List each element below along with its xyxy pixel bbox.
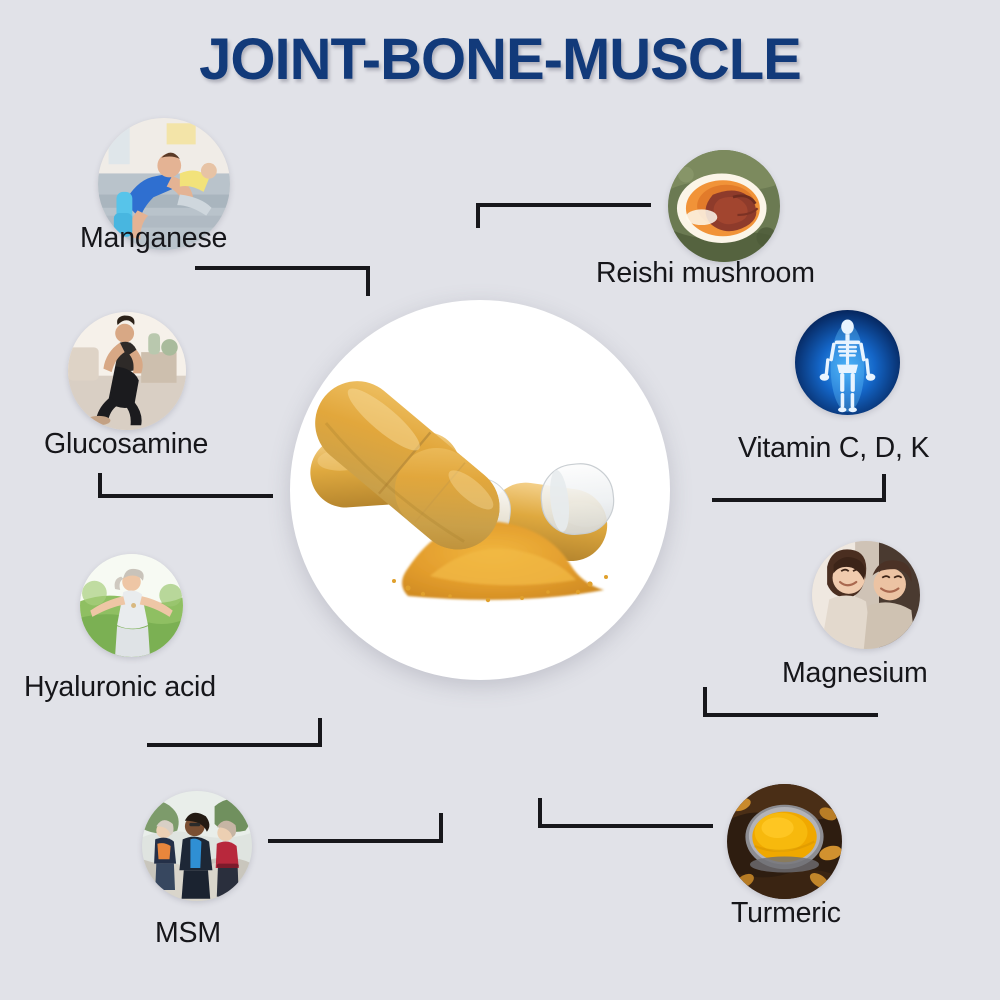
node-label-magnesium: Magnesium	[782, 657, 928, 690]
node-label-turmeric: Turmeric	[731, 897, 841, 930]
connector-reishi	[478, 205, 651, 228]
connector-magnesium	[705, 687, 878, 715]
woman-arms-open-photo-icon	[80, 554, 183, 657]
three-women-walking-photo-icon	[142, 791, 252, 901]
connector-manganese	[195, 268, 368, 296]
node-label-reishi-mushroom: Reishi mushroom	[596, 257, 815, 290]
infographic-canvas: JOINT-BONE-MUSCLE	[0, 0, 1000, 1000]
connector-msm	[268, 813, 441, 841]
two-women-smiling-photo-icon	[812, 541, 920, 649]
connector-vitamin	[712, 474, 884, 500]
page-title: JOINT-BONE-MUSCLE	[0, 26, 1000, 93]
connector-glucosamine	[100, 473, 273, 496]
node-label-glucosamine: Glucosamine	[44, 428, 208, 461]
woman-stretching-photo-icon	[68, 312, 186, 430]
node-label-msm: MSM	[155, 917, 221, 950]
skeleton-xray-photo-icon	[795, 310, 900, 415]
supplement-capsules-image	[290, 300, 670, 680]
turmeric-bowl-photo-icon	[727, 784, 842, 899]
node-label-manganese: Manganese	[80, 222, 227, 255]
connector-turmeric	[540, 798, 713, 826]
capsules-illustration	[290, 300, 670, 680]
reishi-mushroom-photo-icon	[668, 150, 780, 262]
connector-hyaluronic	[147, 718, 320, 745]
node-label-vitamin-c-d-k: Vitamin C, D, K	[738, 432, 929, 465]
node-label-hyaluronic-acid: Hyaluronic acid	[24, 671, 216, 704]
